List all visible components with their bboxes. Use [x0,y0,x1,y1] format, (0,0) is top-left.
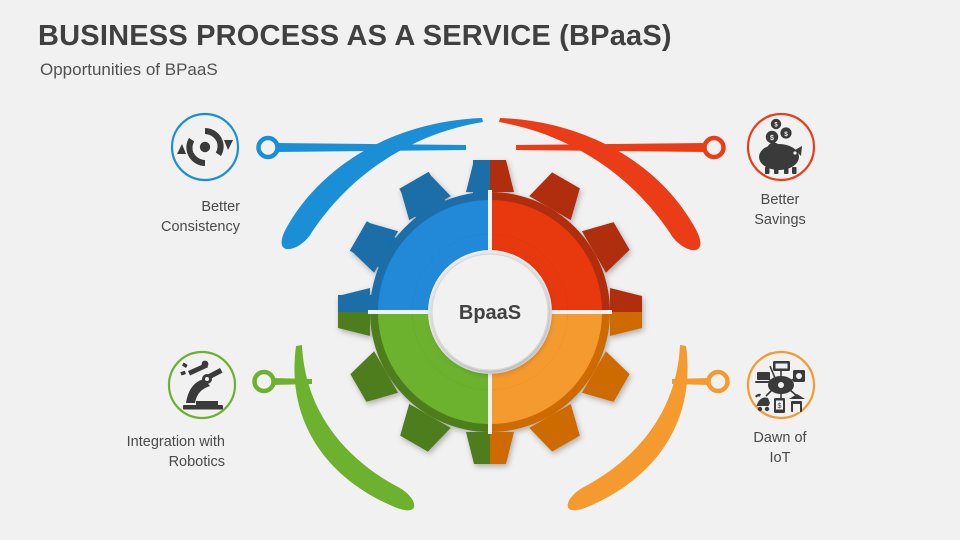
icon-circle-top-right[interactable]: $ $ $ [748,114,814,180]
node-label-line1: Better [690,190,870,210]
node-label-line2: Savings [690,210,870,230]
node-label-top-left: Better Consistency [60,197,240,237]
node-label-top-right: Better Savings [690,190,870,230]
icon-circle-bottom-left[interactable] [169,352,235,418]
icon-circle-top-left[interactable] [172,114,238,180]
node-label-line1: Integration with [45,432,225,452]
slide-canvas: BUSINESS PROCESS AS A SERVICE (BPaaS) Op… [0,0,960,540]
svg-text:$: $ [784,131,788,138]
node-label-line1: Dawn of [690,428,870,448]
icon-circle-bottom-right[interactable]: $ [748,352,814,418]
node-label-line2: Consistency [60,217,240,237]
svg-text:$: $ [778,403,782,410]
center-label: BpaaS [459,302,521,324]
node-label-line2: Robotics [45,452,225,472]
node-label-line2: IoT [690,448,870,468]
node-label-bottom-left: Integration with Robotics [45,432,225,472]
node-label-bottom-right: Dawn of IoT [690,428,870,468]
node-label-line1: Better [60,197,240,217]
svg-text:$: $ [770,135,774,142]
